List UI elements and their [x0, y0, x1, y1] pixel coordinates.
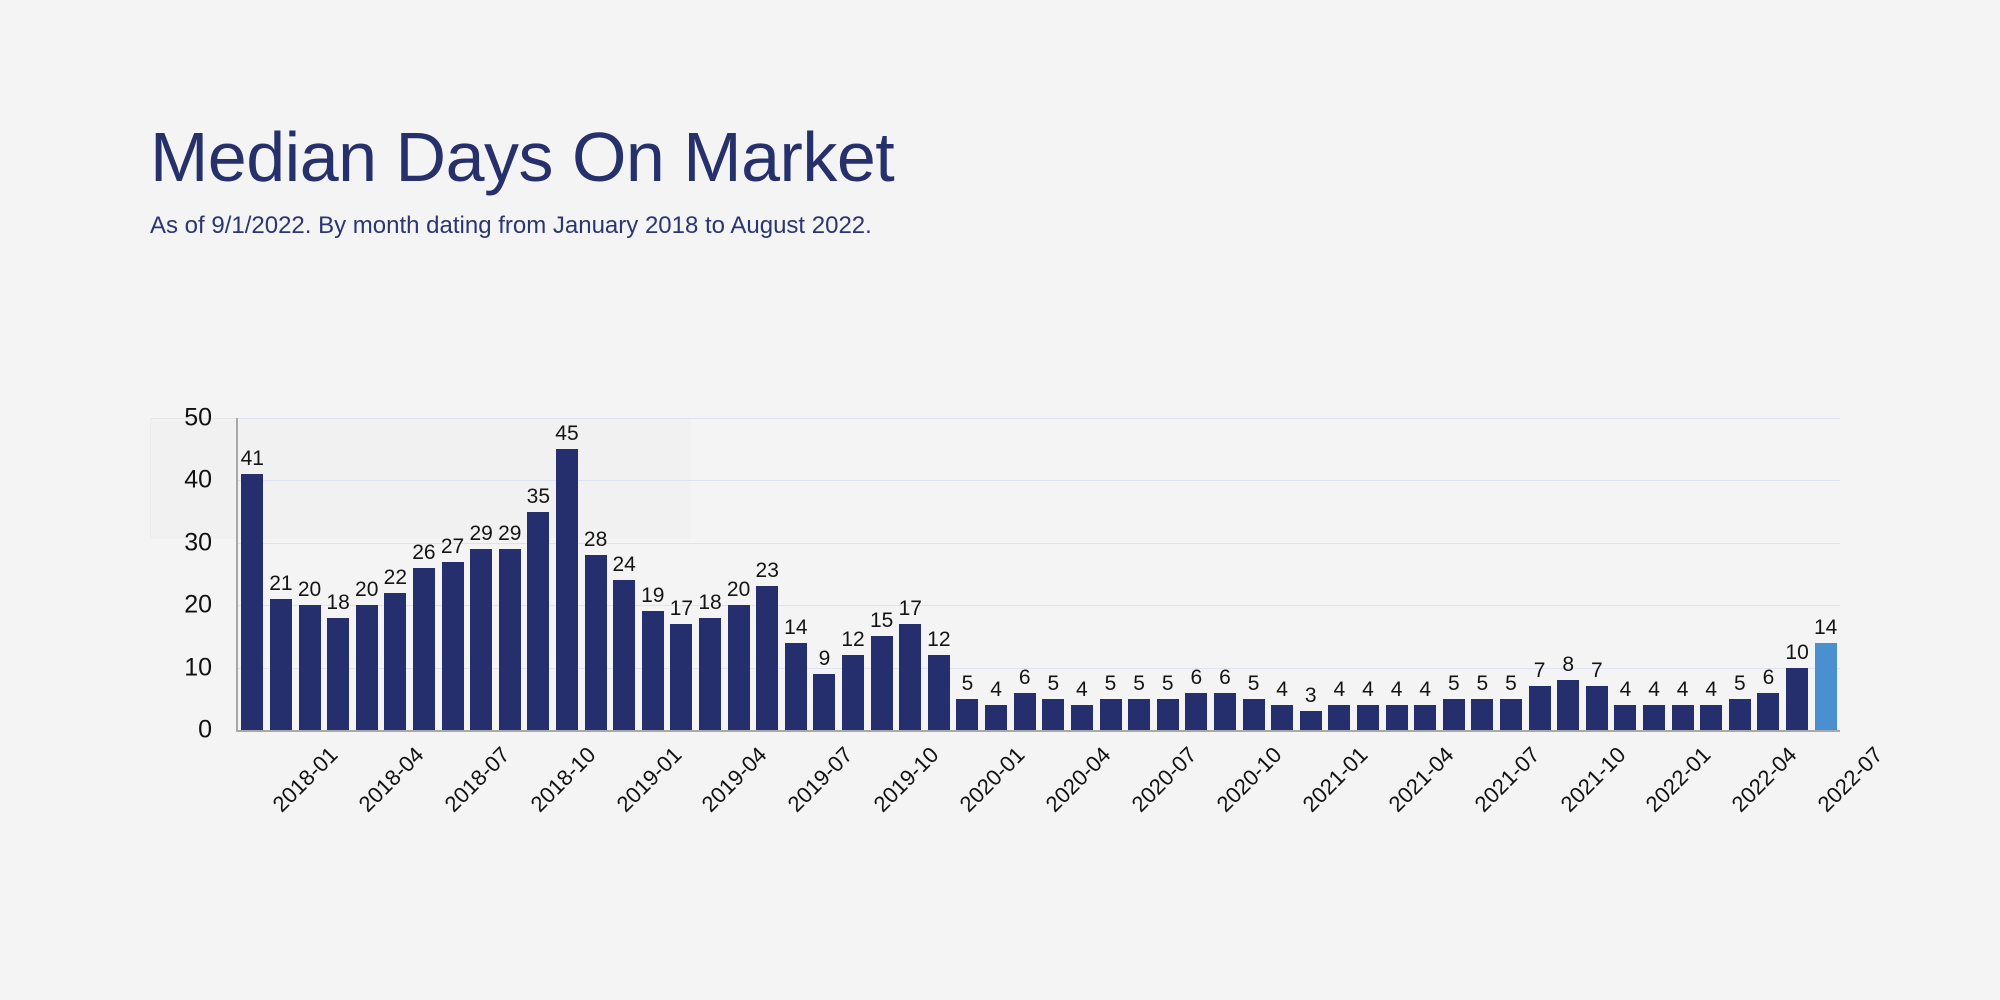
bar-value-label: 35 — [527, 485, 550, 509]
bar[interactable] — [1443, 699, 1465, 730]
x-axis-tick-label: 2019-01 — [611, 742, 686, 817]
bar[interactable] — [1071, 705, 1093, 730]
bar-value-label: 12 — [927, 628, 950, 652]
bar-value-label: 4 — [1334, 678, 1346, 702]
bar-value-label: 5 — [1477, 672, 1489, 696]
bar-value-label: 5 — [1105, 672, 1117, 696]
bar-value-label: 18 — [698, 591, 721, 615]
bar[interactable] — [585, 555, 607, 730]
x-axis-tick-label: 2021-10 — [1555, 742, 1630, 817]
bar-column[interactable]: 5 — [1096, 418, 1125, 730]
bar[interactable] — [1014, 693, 1036, 730]
bar-column[interactable]: 27 — [438, 418, 467, 730]
bar-column[interactable]: 20 — [352, 418, 381, 730]
bar[interactable] — [1243, 699, 1265, 730]
bar-column[interactable]: 35 — [524, 418, 553, 730]
x-axis: 2018-012018-042018-072018-102019-012019-… — [236, 736, 1838, 846]
bar-value-label: 22 — [384, 566, 407, 590]
bar-value-label: 10 — [1785, 641, 1808, 665]
bar-value-label: 6 — [1763, 666, 1775, 690]
bar[interactable] — [1357, 705, 1379, 730]
plot-area: 4121201820222627292935452824191718202314… — [236, 418, 1840, 732]
bar[interactable] — [241, 474, 263, 730]
bar-column[interactable]: 8 — [1554, 418, 1583, 730]
bar-value-label: 4 — [1419, 678, 1431, 702]
bar-value-label: 8 — [1562, 653, 1574, 677]
bar-column[interactable]: 24 — [610, 418, 639, 730]
bar-value-label: 4 — [1677, 678, 1689, 702]
bar-value-label: 5 — [1248, 672, 1260, 696]
bar-value-label: 5 — [1505, 672, 1517, 696]
bar[interactable] — [899, 624, 921, 730]
bar-value-label: 27 — [441, 535, 464, 559]
x-axis-tick-label: 2018-01 — [268, 742, 343, 817]
y-axis-tick-label: 30 — [184, 528, 212, 557]
bar-column[interactable]: 6 — [1211, 418, 1240, 730]
bar-column[interactable]: 4 — [1068, 418, 1097, 730]
bar[interactable] — [413, 568, 435, 730]
bar-column[interactable]: 17 — [667, 418, 696, 730]
x-axis-tick-label: 2019-10 — [869, 742, 944, 817]
bar-value-label: 5 — [1047, 672, 1059, 696]
bar[interactable] — [470, 549, 492, 730]
bar-value-label: 41 — [241, 447, 264, 471]
bar-column[interactable]: 18 — [324, 418, 353, 730]
bar-column[interactable]: 21 — [267, 418, 296, 730]
page-title: Median Days On Market — [150, 122, 1550, 192]
bar[interactable] — [1100, 699, 1122, 730]
bar[interactable] — [499, 549, 521, 730]
bar[interactable] — [956, 699, 978, 730]
bar-column[interactable]: 4 — [1354, 418, 1383, 730]
bar-value-label: 20 — [727, 578, 750, 602]
bar-value-label: 4 — [1705, 678, 1717, 702]
bar[interactable] — [642, 611, 664, 730]
bar-value-label: 17 — [670, 597, 693, 621]
bar[interactable] — [1586, 686, 1608, 730]
bar-column[interactable]: 6 — [1010, 418, 1039, 730]
bar-column[interactable]: 5 — [1039, 418, 1068, 730]
bar[interactable] — [384, 593, 406, 730]
bar-value-label: 29 — [469, 522, 492, 546]
bar[interactable] — [1700, 705, 1722, 730]
bar-column[interactable]: 12 — [925, 418, 954, 730]
bar-column[interactable]: 6 — [1754, 418, 1783, 730]
bar-column[interactable]: 20 — [724, 418, 753, 730]
bar-value-label: 19 — [641, 584, 664, 608]
bar-column[interactable]: 22 — [381, 418, 410, 730]
bar-value-label: 24 — [613, 553, 636, 577]
bar-column[interactable]: 28 — [581, 418, 610, 730]
bar-column[interactable]: 4 — [1268, 418, 1297, 730]
bar-column[interactable]: 12 — [839, 418, 868, 730]
bar-column[interactable]: 10 — [1783, 418, 1812, 730]
y-axis-tick-label: 10 — [184, 653, 212, 682]
bar-column[interactable]: 17 — [896, 418, 925, 730]
bar[interactable] — [699, 618, 721, 730]
bar[interactable] — [1729, 699, 1751, 730]
bar-column[interactable]: 4 — [1611, 418, 1640, 730]
bar-series: 4121201820222627292935452824191718202314… — [238, 418, 1840, 730]
bar-column[interactable]: 4 — [1668, 418, 1697, 730]
bar-value-label: 18 — [326, 591, 349, 615]
bar-column[interactable]: 29 — [467, 418, 496, 730]
bar-value-label: 15 — [870, 609, 893, 633]
bar[interactable] — [1529, 686, 1551, 730]
x-axis-tick-label: 2021-07 — [1469, 742, 1544, 817]
bar-value-label: 45 — [555, 422, 578, 446]
bar-value-label: 17 — [899, 597, 922, 621]
bar-value-label: 4 — [1276, 678, 1288, 702]
bar-column[interactable]: 23 — [753, 418, 782, 730]
bar-value-label: 6 — [1019, 666, 1031, 690]
x-axis-tick-label: 2022-01 — [1641, 742, 1716, 817]
bar-column[interactable]: 14 — [782, 418, 811, 730]
bar[interactable] — [842, 655, 864, 730]
bar-column[interactable]: 9 — [810, 418, 839, 730]
bar[interactable] — [1157, 699, 1179, 730]
bar-value-label: 20 — [298, 578, 321, 602]
bar[interactable] — [728, 605, 750, 730]
x-axis-tick-label: 2020-10 — [1212, 742, 1287, 817]
bar-column[interactable]: 7 — [1525, 418, 1554, 730]
chart-subtitle: As of 9/1/2022. By month dating from Jan… — [150, 192, 1550, 240]
bar[interactable] — [299, 605, 321, 730]
bar-column[interactable]: 6 — [1182, 418, 1211, 730]
bar-column[interactable]: 3 — [1296, 418, 1325, 730]
bar[interactable] — [1300, 711, 1322, 730]
bar-value-label: 5 — [1448, 672, 1460, 696]
bar[interactable] — [442, 562, 464, 730]
bar[interactable] — [1471, 699, 1493, 730]
bar-value-label: 5 — [1162, 672, 1174, 696]
x-axis-tick-label: 2019-07 — [783, 742, 858, 817]
x-axis-tick-label: 2020-01 — [955, 742, 1030, 817]
bar-column[interactable]: 45 — [553, 418, 582, 730]
bar-column[interactable]: 18 — [696, 418, 725, 730]
bar-value-label: 3 — [1305, 684, 1317, 708]
bar[interactable] — [670, 624, 692, 730]
bar-value-label: 20 — [355, 578, 378, 602]
bar-value-label: 26 — [412, 541, 435, 565]
bar[interactable] — [813, 674, 835, 730]
bar[interactable] — [1185, 693, 1207, 730]
bar-value-label: 7 — [1534, 659, 1546, 683]
bar[interactable] — [928, 655, 950, 730]
x-axis-tick-label: 2022-04 — [1727, 742, 1802, 817]
bar-column[interactable]: 5 — [1153, 418, 1182, 730]
bar-value-label: 21 — [269, 572, 292, 596]
bar-column[interactable]: 15 — [867, 418, 896, 730]
bar-value-label: 6 — [1219, 666, 1231, 690]
x-axis-tick-label: 2018-04 — [354, 742, 429, 817]
bar-value-label: 14 — [1814, 616, 1837, 640]
bar-column[interactable]: 26 — [410, 418, 439, 730]
bar[interactable] — [1328, 705, 1350, 730]
bar-column[interactable]: 5 — [1726, 418, 1755, 730]
bar-column[interactable]: 5 — [953, 418, 982, 730]
bar-value-label: 4 — [1076, 678, 1088, 702]
bar[interactable] — [1786, 668, 1808, 730]
bar-value-label: 29 — [498, 522, 521, 546]
bar-column[interactable]: 5 — [1440, 418, 1469, 730]
bar-value-label: 9 — [819, 647, 831, 671]
bar[interactable] — [556, 449, 578, 730]
bar-column[interactable]: 4 — [1325, 418, 1354, 730]
y-axis-tick-label: 20 — [184, 591, 212, 620]
bar-column[interactable]: 20 — [295, 418, 324, 730]
bar[interactable] — [985, 705, 1007, 730]
bar-column[interactable]: 4 — [1697, 418, 1726, 730]
y-axis-tick-label: 0 — [198, 716, 212, 745]
bar[interactable] — [756, 586, 778, 730]
bar[interactable] — [1500, 699, 1522, 730]
bar[interactable] — [1128, 699, 1150, 730]
bar-column[interactable]: 29 — [495, 418, 524, 730]
x-axis-tick-label: 2022-07 — [1813, 742, 1888, 817]
bar-value-label: 6 — [1190, 666, 1202, 690]
bar[interactable] — [871, 636, 893, 730]
bar-value-label: 4 — [990, 678, 1002, 702]
bar-column[interactable]: 41 — [238, 418, 267, 730]
bar[interactable] — [356, 605, 378, 730]
bar-value-label: 14 — [784, 616, 807, 640]
bar[interactable] — [327, 618, 349, 730]
x-axis-tick-label: 2019-04 — [697, 742, 772, 817]
bar-value-label: 4 — [1648, 678, 1660, 702]
x-axis-tick-label: 2018-10 — [525, 742, 600, 817]
bar-column[interactable]: 5 — [1497, 418, 1526, 730]
bar[interactable] — [1214, 693, 1236, 730]
bar-column[interactable]: 19 — [639, 418, 668, 730]
bar[interactable] — [1042, 699, 1064, 730]
bar-column[interactable]: 4 — [1382, 418, 1411, 730]
y-axis-tick-label: 40 — [184, 466, 212, 495]
bar-column[interactable]: 4 — [1411, 418, 1440, 730]
bar[interactable] — [270, 599, 292, 730]
bar-value-label: 4 — [1391, 678, 1403, 702]
bar-column[interactable]: 5 — [1125, 418, 1154, 730]
bar-value-label: 4 — [1620, 678, 1632, 702]
bar-column[interactable]: 4 — [982, 418, 1011, 730]
bar-value-label: 12 — [841, 628, 864, 652]
bar-column[interactable]: 5 — [1468, 418, 1497, 730]
x-axis-tick-label: 2020-07 — [1126, 742, 1201, 817]
bar-value-label: 28 — [584, 528, 607, 552]
x-axis-tick-label: 2020-04 — [1040, 742, 1115, 817]
bar-value-label: 23 — [756, 559, 779, 583]
bar[interactable] — [1672, 705, 1694, 730]
x-axis-tick-label: 2021-01 — [1298, 742, 1373, 817]
bar[interactable] — [1557, 680, 1579, 730]
bar-column[interactable]: 14 — [1811, 418, 1840, 730]
y-axis-tick-label: 50 — [184, 404, 212, 433]
bar[interactable] — [1643, 705, 1665, 730]
bar[interactable] — [1386, 705, 1408, 730]
bar-value-label: 5 — [1734, 672, 1746, 696]
x-axis-tick-label: 2018-07 — [440, 742, 515, 817]
bar-column[interactable]: 7 — [1583, 418, 1612, 730]
chart-header: Median Days On Market As of 9/1/2022. By… — [150, 122, 1550, 240]
bar-column[interactable]: 5 — [1239, 418, 1268, 730]
bar-chart: 01020304050 4121201820222627292935452824… — [150, 418, 1850, 838]
bar[interactable] — [785, 643, 807, 730]
bar[interactable] — [613, 580, 635, 730]
bar-value-label: 7 — [1591, 659, 1603, 683]
bar-value-label: 5 — [962, 672, 974, 696]
bar-highlighted[interactable] — [1815, 643, 1837, 730]
bar-value-label: 5 — [1133, 672, 1145, 696]
bar-column[interactable]: 4 — [1640, 418, 1669, 730]
y-axis: 01020304050 — [150, 418, 224, 730]
bar[interactable] — [1757, 693, 1779, 730]
bar[interactable] — [1271, 705, 1293, 730]
x-axis-tick-label: 2021-04 — [1384, 742, 1459, 817]
bar-value-label: 4 — [1362, 678, 1374, 702]
bar[interactable] — [1414, 705, 1436, 730]
bar[interactable] — [527, 512, 549, 730]
bar[interactable] — [1614, 705, 1636, 730]
